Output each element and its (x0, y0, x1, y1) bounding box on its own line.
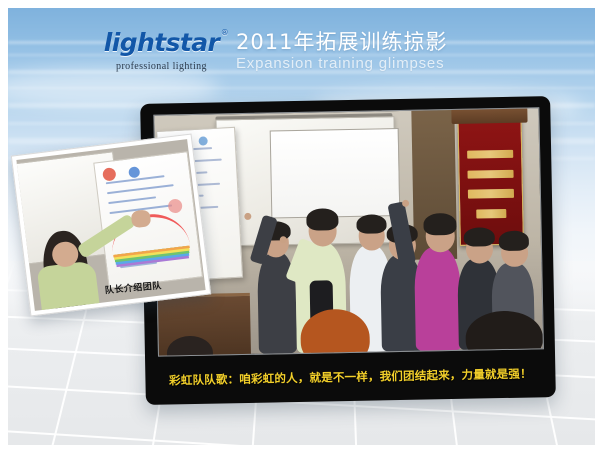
title-english: Expansion training glimpses (236, 55, 447, 72)
inset-photo-label: 队长介绍团队 (105, 279, 163, 297)
poster-stage: lightstar® professional lighting 2011年拓展… (8, 8, 595, 445)
logo-tagline: professional lighting (94, 61, 229, 72)
photo-red-banner (458, 118, 524, 246)
photo-projection-screen (270, 128, 400, 219)
page-title: 2011年拓展训练掠影 Expansion training glimpses (236, 30, 447, 72)
photo-person-hair (423, 213, 456, 235)
photo-banner-rod (451, 108, 527, 124)
photo-person-hair (306, 208, 339, 230)
poster-page: lightstar® professional lighting 2011年拓展… (0, 0, 603, 453)
photo-person-hair (464, 227, 495, 247)
photo-fist (402, 200, 409, 207)
inset-person-body (37, 261, 101, 311)
title-chinese: 2011年拓展训练掠影 (236, 30, 447, 54)
photo-person-hair (356, 214, 387, 234)
photo-person-hair (498, 231, 529, 251)
photo-fist (280, 236, 287, 243)
inset-photo-frame: 队长介绍团队 (11, 134, 211, 317)
floor-grid-line (8, 423, 595, 445)
main-photo-caption: 彩虹队队歌：咱彩虹的人，就是不一样，我们团结起来，力量就是强！ (169, 365, 532, 388)
brand-logo: lightstar® professional lighting (94, 30, 229, 72)
logo-registered-mark: ® (221, 29, 228, 37)
poster-header: lightstar® professional lighting 2011年拓展… (8, 8, 595, 94)
photo-fist (245, 212, 252, 219)
inset-photo-image: 队长介绍团队 (16, 139, 205, 311)
main-photo-caption-bar: 彩虹队队歌：咱彩虹的人，就是不一样，我们团结起来，力量就是强！ (145, 349, 556, 405)
logo-wordmark: lightstar® (104, 30, 219, 55)
main-photo-image (153, 107, 544, 356)
photo-person (414, 247, 462, 351)
